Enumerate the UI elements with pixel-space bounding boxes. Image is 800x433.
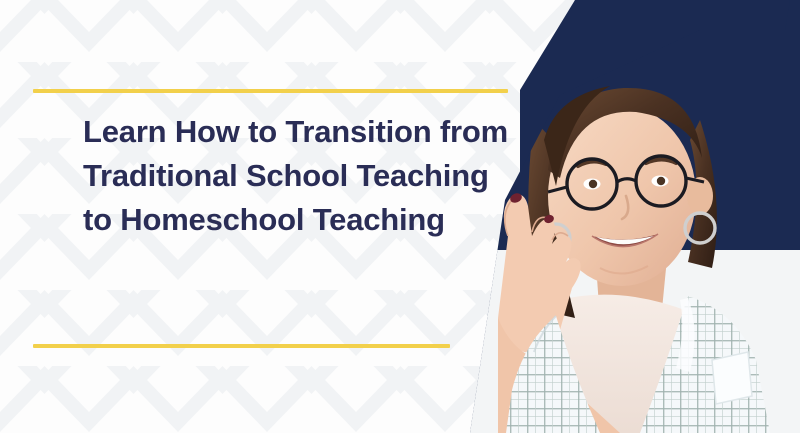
promo-banner: Learn How to Transition from Traditional… [0,0,800,433]
bottom-yellow-rule [33,344,450,348]
top-yellow-rule [33,89,508,93]
headline-title: Learn How to Transition from Traditional… [83,110,513,242]
